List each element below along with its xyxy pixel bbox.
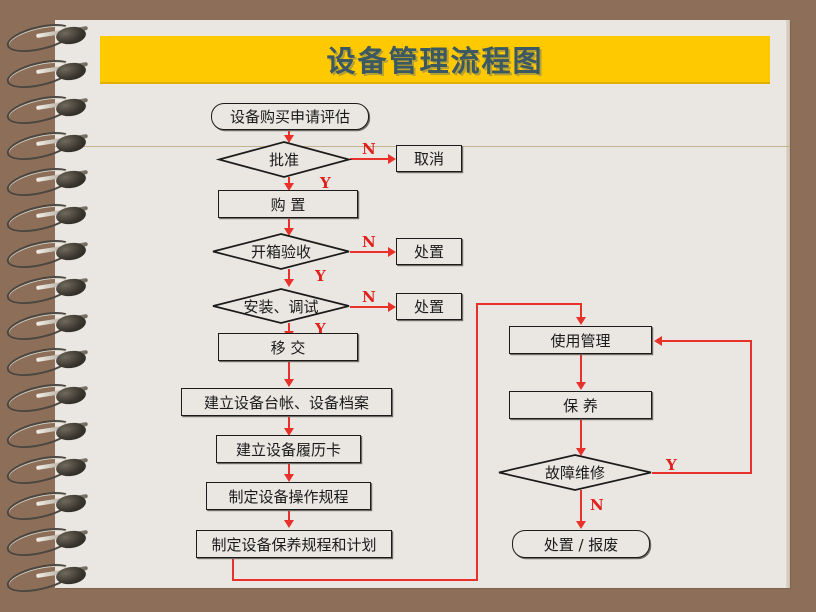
node-apply[interactable]: 设备购买申请评估	[211, 103, 369, 130]
node-label: 处置	[414, 241, 444, 262]
arrowhead-down	[576, 521, 586, 529]
connector-unpack-dispose	[350, 251, 390, 253]
connector-right-riser	[476, 303, 478, 581]
spiral-coil	[6, 132, 98, 158]
spiral-coil	[6, 60, 98, 86]
arrowhead-down	[284, 379, 294, 387]
arrowhead-right	[388, 302, 396, 312]
spiral-coil	[6, 564, 98, 590]
spiral-coil	[6, 276, 98, 302]
node-handover[interactable]: 移 交	[218, 333, 358, 361]
node-label: 故障维修	[498, 454, 652, 491]
node-maintplan[interactable]: 制定设备保养规程和计划	[196, 530, 392, 558]
node-label: 购 置	[271, 194, 306, 215]
node-label: 建立设备台帐、设备档案	[204, 392, 369, 413]
node-record[interactable]: 建立设备履历卡	[216, 435, 361, 463]
spiral-coil	[6, 204, 98, 230]
spiral-coil	[6, 384, 98, 410]
node-scrap[interactable]: 处置 / 报废	[512, 530, 650, 558]
connector-maintplan-down	[232, 558, 234, 581]
node-purchase[interactable]: 购 置	[218, 190, 358, 218]
branch-label-unpack-no: N	[362, 233, 376, 251]
arrowhead-right	[388, 247, 396, 257]
node-dispose-1[interactable]: 处置	[396, 238, 462, 265]
node-label: 制定设备操作规程	[228, 486, 348, 507]
connector-bottom-run	[232, 579, 478, 581]
arrowhead-down	[284, 520, 294, 528]
node-unpack[interactable]: 开箱验收	[212, 233, 350, 270]
page-right-edge	[786, 20, 790, 588]
node-label: 安装、调试	[212, 288, 350, 324]
spiral-coil	[6, 168, 98, 194]
arrowhead-down	[576, 317, 586, 325]
connector-repair-yes-riser	[750, 340, 752, 474]
spiral-coil	[6, 96, 98, 122]
node-label: 批准	[218, 141, 350, 178]
branch-label-install-no: N	[362, 288, 376, 306]
node-label: 取消	[414, 148, 444, 169]
spiral-coil	[6, 492, 98, 518]
branch-label-approve-no: N	[362, 140, 376, 158]
arrowhead-down	[576, 382, 586, 390]
node-repair[interactable]: 故障维修	[498, 454, 652, 491]
node-operation[interactable]: 制定设备操作规程	[206, 482, 371, 510]
node-approve[interactable]: 批准	[218, 141, 350, 178]
node-dispose-2[interactable]: 处置	[396, 293, 462, 320]
connector-approve-cancel	[350, 158, 390, 160]
spiral-coil	[6, 348, 98, 374]
connector-repair-scrap	[580, 490, 582, 524]
connector-install-dispose	[350, 306, 390, 308]
node-ledger[interactable]: 建立设备台帐、设备档案	[181, 388, 392, 416]
node-label: 处置 / 报废	[544, 534, 619, 555]
slide-canvas: 设备管理流程图	[0, 0, 816, 612]
spiral-coil	[6, 456, 98, 482]
spiral-coil	[6, 420, 98, 446]
node-usage[interactable]: 使用管理	[509, 326, 652, 354]
node-label: 处置	[414, 296, 444, 317]
connector-repair-yes-return	[660, 340, 752, 342]
node-label: 开箱验收	[212, 233, 350, 270]
spiral-coil	[6, 312, 98, 338]
spiral-binding	[0, 0, 110, 612]
title-banner: 设备管理流程图	[100, 36, 770, 84]
spiral-coil	[6, 24, 98, 50]
arrowhead-right	[388, 154, 396, 164]
node-label: 保 养	[563, 395, 598, 416]
branch-label-repair-yes: Y	[666, 456, 677, 474]
branch-label-repair-no: N	[590, 496, 604, 514]
spiral-coil	[6, 240, 98, 266]
connector-top-run-to-usage	[476, 303, 582, 305]
page-title: 设备管理流程图	[100, 36, 770, 82]
arrowhead-left	[654, 336, 662, 346]
spiral-coil	[6, 528, 98, 554]
connector-upkeep-repair	[580, 418, 582, 451]
node-label: 建立设备履历卡	[236, 439, 341, 460]
arrowhead-down	[284, 279, 294, 287]
connector-usage-upkeep	[580, 353, 582, 385]
node-install[interactable]: 安装、调试	[212, 288, 350, 324]
node-label: 使用管理	[550, 330, 610, 351]
node-label: 设备购买申请评估	[230, 106, 350, 127]
arrowhead-down	[284, 474, 294, 482]
node-label: 制定设备保养规程和计划	[211, 534, 376, 555]
node-upkeep[interactable]: 保 养	[509, 391, 652, 419]
node-label: 移 交	[271, 337, 306, 358]
node-cancel[interactable]: 取消	[396, 145, 462, 172]
